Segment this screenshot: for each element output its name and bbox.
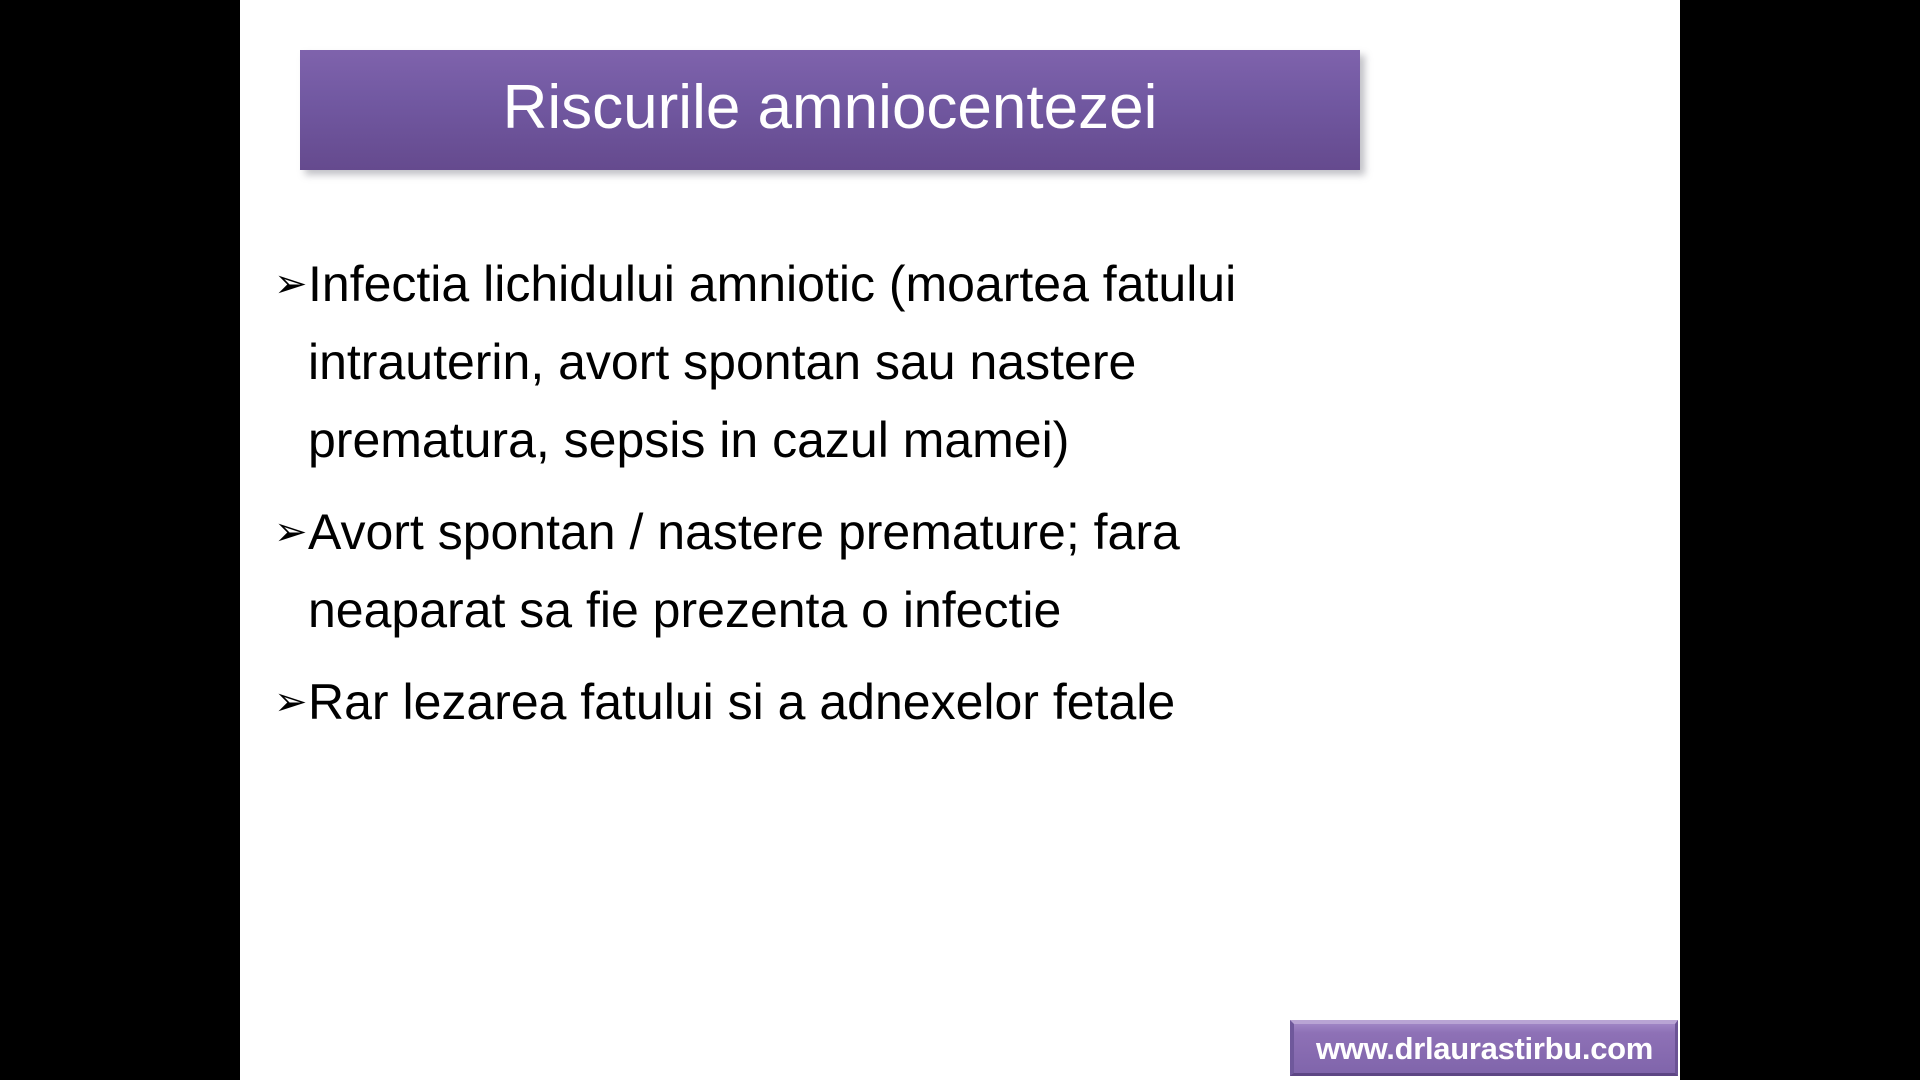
letterbox-bar-left — [0, 0, 240, 1080]
arrow-bullet-icon: ➢ — [268, 245, 308, 323]
letterbox-bar-right — [1680, 0, 1920, 1080]
list-item-text: Avort spontan / nastere premature; fara … — [308, 493, 1248, 649]
slide-title-banner: Riscurile amniocentezei — [300, 50, 1360, 170]
website-url-label: www.drlaurastirbu.com — [1316, 1031, 1653, 1067]
list-item: ➢ Rar lezarea fatului si a adnexelor fet… — [268, 663, 1588, 741]
list-item-text: Rar lezarea fatului si a adnexelor fetal… — [308, 663, 1318, 741]
arrow-bullet-icon: ➢ — [268, 663, 308, 741]
arrow-bullet-icon: ➢ — [268, 493, 308, 571]
presentation-slide: Riscurile amniocentezei ➢ Infectia lichi… — [240, 0, 1680, 1080]
page-title: Riscurile amniocentezei — [503, 77, 1158, 139]
list-item: ➢ Avort spontan / nastere premature; far… — [268, 493, 1588, 649]
list-item: ➢ Infectia lichidului amniotic (moartea … — [268, 245, 1588, 479]
bullet-list: ➢ Infectia lichidului amniotic (moartea … — [268, 245, 1588, 755]
list-item-text: Infectia lichidului amniotic (moartea fa… — [308, 245, 1318, 479]
website-badge[interactable]: www.drlaurastirbu.com — [1290, 1020, 1678, 1076]
slide-stage: Riscurile amniocentezei ➢ Infectia lichi… — [0, 0, 1920, 1080]
